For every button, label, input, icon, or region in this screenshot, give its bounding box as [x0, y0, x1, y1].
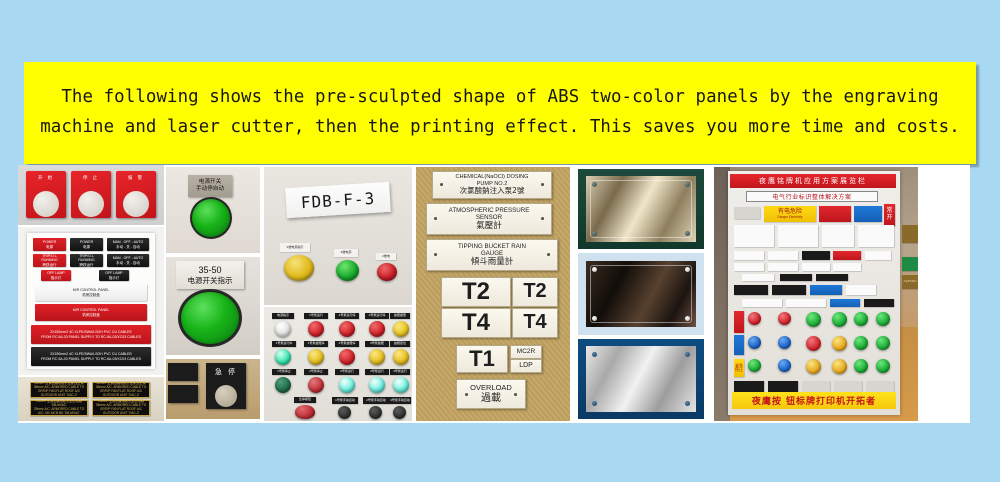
plate-en-line1: TIPPING BUCKET RAIN	[458, 243, 526, 250]
push-button[interactable]	[393, 349, 409, 365]
label-tag: MAN - OFF - AUTO 手动 - 关 - 自动	[107, 238, 149, 251]
push-button[interactable]	[308, 349, 324, 365]
black-sample-plate	[168, 363, 198, 381]
green-button[interactable]	[854, 359, 868, 373]
sample-label	[742, 274, 774, 281]
tag-plate-t2-left: T2	[441, 277, 511, 307]
photo-column-3: FDB-F-3 4楼电源指示 3楼电源 2楼电 电源指示 1号泵运行 2号泵运行…	[262, 165, 414, 423]
screw-icon	[434, 217, 437, 220]
screw-icon	[547, 253, 550, 256]
overload-nameplate: OVERLOAD 過載	[456, 379, 526, 409]
metal-plate-brass	[586, 176, 696, 242]
sample-plaque	[902, 225, 918, 243]
green-button[interactable]	[854, 336, 868, 350]
green-button[interactable]	[854, 312, 868, 326]
green-button[interactable]	[806, 312, 821, 327]
exhibit-sub-banner: 电气行业标识整体解决方案	[746, 191, 878, 202]
exhibit-red-banner: 夜鹰铭牌机应用方案展览栏	[730, 174, 896, 188]
tag-line2: 机房控制盘	[82, 293, 100, 297]
screw-icon	[592, 401, 597, 406]
push-button[interactable]	[275, 321, 291, 337]
button-label: 1号泵运行中	[272, 341, 296, 347]
red-button[interactable]	[806, 336, 821, 351]
red-plate: 开 始	[26, 171, 66, 218]
push-button[interactable]	[308, 321, 324, 337]
sample-label	[854, 206, 882, 222]
sample-label	[742, 299, 782, 307]
label-tag: MAN - OFF - AUTO 手动 - 关 - 自动	[107, 254, 149, 267]
captain-plaque: CAPTAIN	[902, 275, 918, 289]
screw-icon	[685, 401, 690, 406]
photo-pushbutton-array: 电源指示 1号泵运行 2号泵运行停 3号泵运行停 故障报警 1号泵运行中 1号泵…	[264, 307, 412, 421]
sample-label	[810, 285, 842, 295]
equipment-nameplate: TIPPING BUCKET RAIN GAUGE 傾斗雨量計	[426, 239, 558, 271]
photo-whitespace	[920, 165, 970, 423]
selector-label: 3号泵手动自动	[389, 397, 411, 404]
screw-icon	[685, 231, 690, 236]
photo-column-4: CHEMICAL(NaOCl) DOSING PUMP NO.2 次氯酸鈉注入泵…	[414, 165, 572, 423]
gold-nameplate: 35mm² 空调铠装电缆引至屋顶空调 35mm² A/C. ARMORED CA…	[30, 382, 88, 398]
photo-green-lamp-a: 电源开关 手动停自动	[166, 167, 260, 253]
lamp-label: 3楼电源	[334, 249, 358, 257]
engraved-lamp-plate: 电源开关 手动停自动	[188, 175, 232, 197]
exhibition-panel: 夜鹰铭牌机应用方案展览栏 电气行业标识整体解决方案 有电危险 Danger El…	[728, 171, 900, 415]
tag-plate-t2-right: T2	[512, 277, 558, 307]
screw-icon	[514, 393, 517, 396]
emergency-stop-plate: 急 停	[206, 363, 246, 409]
label-tag: 2X150mm2 4C XLPE/SWA/LSOH PVC CU CABLES …	[31, 325, 151, 344]
green-button[interactable]	[876, 312, 890, 326]
plate-border	[590, 265, 692, 323]
plate-title: 急 停	[215, 367, 237, 377]
red-button[interactable]	[778, 312, 791, 325]
blue-button[interactable]	[748, 336, 761, 349]
tag-line2: FROM RC 6A-03 PANEL SUPPLY TO RC-6A-03/X…	[41, 357, 141, 361]
push-button[interactable]	[308, 377, 324, 393]
plate-line1: 电源开关	[199, 179, 221, 186]
push-button[interactable]	[275, 377, 291, 393]
danger-label-en: Danger Electricity	[778, 216, 803, 220]
sample-label	[734, 311, 744, 333]
plate-line2: 电源开关指示	[188, 276, 233, 285]
blue-button[interactable]	[778, 336, 791, 349]
red-plate-title: 停 止	[71, 175, 111, 181]
plate-hole	[78, 191, 104, 217]
gold-nameplate: 25mm² 空调铠装电缆引至配电箱 'DB-MVAC' 25mm² A/C. A…	[30, 400, 88, 416]
button-label: 1号泵故障停	[304, 341, 328, 347]
screw-icon	[465, 393, 468, 396]
push-button[interactable]	[339, 321, 355, 337]
emergency-stop-button[interactable]	[295, 405, 315, 419]
sample-label	[734, 285, 768, 295]
sample-label	[768, 263, 798, 271]
button-label: 1号泵运行	[304, 313, 328, 319]
lamp-label: 4楼电源指示	[280, 243, 310, 252]
sample-label	[802, 263, 830, 271]
screw-icon	[685, 352, 690, 357]
green-indicator-lamp	[192, 199, 230, 237]
red-button[interactable]	[748, 312, 761, 325]
screw-icon	[592, 267, 597, 272]
photo-exhibition-board: 夜鹰铭牌机应用方案展览栏 电气行业标识整体解决方案 有电危险 Danger El…	[714, 167, 918, 421]
red-plate: 停 止	[71, 171, 111, 218]
photo-column-6: 夜鹰铭牌机应用方案展览栏 电气行业标识整体解决方案 有电危险 Danger El…	[712, 165, 970, 423]
sample-label	[816, 274, 848, 281]
tag-plate-t4-right: T4	[512, 308, 558, 338]
sample-label	[864, 299, 894, 307]
button-label: 故障报警	[390, 313, 410, 319]
button-label: 故障复位	[390, 341, 410, 347]
danger-electricity-label: 有电危险 Danger Electricity	[764, 206, 816, 222]
gold-nameplate: 35mm² 空调铠装电缆引至屋顶空调 35mm² A/C. ARMORED CA…	[92, 382, 150, 398]
button-label: 4号泵运行	[390, 369, 410, 375]
button-label: 急停按钮	[294, 397, 316, 403]
tag-plate-t1: T1	[456, 345, 508, 373]
screw-icon	[541, 183, 544, 186]
button-label: 2号泵运行	[335, 369, 359, 375]
metal-plate-brushed-silver	[586, 346, 696, 412]
button-label: 2号泵故障停	[335, 341, 359, 347]
tag-line2: 电源	[83, 245, 90, 249]
label-tag: M/R CONTROL PANEL 机房控制盘	[35, 304, 147, 321]
sample-label	[819, 206, 851, 222]
photo-blank-plate-gold	[578, 169, 704, 249]
sample-label	[786, 299, 826, 307]
sample-label	[734, 335, 744, 355]
tag-line1: TRIP/O.L RUNNING	[34, 254, 65, 263]
exhibit-yellow-banner: 夜鹰按 钮标牌打印机开拓者	[732, 392, 896, 409]
plate-hole	[123, 191, 149, 217]
amber-button[interactable]	[806, 359, 821, 374]
sample-label	[822, 225, 854, 247]
photo-red-abs-plates: 开 始 停 止 报 警	[18, 165, 164, 225]
screw-icon	[592, 352, 597, 357]
tag-line1: TRIP/O.L RUNNING	[71, 254, 102, 263]
tag-plate-ldp: LDP	[510, 359, 542, 373]
green-indicator-lamp	[336, 260, 359, 281]
blue-button[interactable]	[778, 359, 791, 372]
sample-label	[858, 225, 894, 247]
tag-plate-mc2r: MC2R	[510, 345, 542, 359]
banner-text: The following shows the pre-sculpted sha…	[35, 83, 965, 143]
sample-label	[734, 207, 760, 219]
sample-label	[846, 285, 876, 295]
plate-zh: 次氯酸鈉注入泵2號	[460, 187, 525, 196]
sample-label	[865, 251, 891, 260]
tag-line2: 手动 - 关 - 自动	[116, 261, 140, 265]
notice-banner: The following shows the pre-sculpted sha…	[24, 62, 976, 164]
tag-line2: 手动 - 关 - 自动	[116, 245, 140, 249]
selector-switch[interactable]	[338, 406, 351, 419]
label-tag: TRIP/O.L RUNNING 跨跃运行	[70, 254, 103, 267]
sample-label	[833, 263, 861, 271]
green-button[interactable]	[832, 312, 847, 327]
tag-plate-t4-left: T4	[441, 308, 511, 338]
photo-green-lamp-b: 35-50 电源开关指示	[166, 257, 260, 355]
photo-column-5	[572, 165, 712, 423]
amber-button[interactable]	[832, 359, 847, 374]
photo-emergency-stop-plate: 急 停	[166, 359, 260, 419]
plate-hole	[33, 191, 59, 217]
button-label: 1号泵停止	[272, 369, 296, 375]
button-label: 2号泵运行停	[335, 313, 359, 319]
plate-line2: 手动停自动	[196, 186, 224, 193]
sample-label	[772, 285, 806, 295]
screw-icon	[592, 231, 597, 236]
push-button[interactable]	[393, 377, 409, 393]
label-sample-board: POWER 电源 POWER 电源 MAN - OFF - AUTO 手动 - …	[27, 233, 155, 369]
push-button[interactable]	[275, 349, 291, 365]
plate-zh: 過載	[481, 393, 501, 405]
normally-open-label: 常开	[884, 204, 895, 226]
screw-icon	[440, 183, 443, 186]
plate-zh: 氣壓計	[476, 221, 502, 231]
lamp-label: 2楼电	[376, 253, 396, 260]
tag-line2: 跨跃运行	[80, 263, 94, 267]
plate-line4: A/C. MV MCB BD 'DB-MVAC'	[34, 412, 84, 416]
red-plate: 报 警	[116, 171, 156, 218]
normally-open-text: 常开	[884, 208, 895, 221]
plate-line1: 35-50	[198, 265, 221, 276]
selector-switch[interactable]	[369, 406, 382, 419]
sample-label	[780, 274, 812, 281]
sample-label	[734, 225, 774, 247]
green-button[interactable]	[748, 359, 761, 372]
tag-line2: FROM RC 6A-03 PANEL SUPPLY TO RC-6A-03/X…	[41, 335, 141, 339]
sample-label	[734, 251, 764, 260]
sample-label	[830, 299, 860, 307]
plate-en: OVERLOAD	[470, 384, 512, 393]
sample-label	[833, 251, 861, 260]
tag-line2: 机房控制盘	[82, 313, 100, 317]
sample-label	[768, 251, 798, 260]
red-plate-title: 开 始	[26, 175, 66, 181]
button-label: 3号泵运行停	[365, 313, 389, 319]
floor-area	[900, 327, 918, 421]
plate-en-line1: ATMOSPHERIC PRESSURE	[449, 207, 530, 214]
red-plate-title: 报 警	[116, 175, 156, 181]
sample-plaque	[902, 257, 918, 271]
arrow-label: 紧急停止	[734, 359, 744, 377]
photo-blank-plate-silver	[578, 339, 704, 419]
plate-line4: OUTDOOR UNIT 'OAC-2'	[96, 412, 146, 416]
tag-line2: 电源	[46, 245, 53, 249]
black-sample-plate	[168, 385, 198, 403]
push-button[interactable]	[393, 321, 409, 337]
photo-control-panel-labels: POWER 电源 POWER 电源 MAN - OFF - AUTO 手动 - …	[18, 227, 164, 375]
selector-label: 2号泵手动自动	[363, 397, 389, 404]
screw-icon	[592, 316, 597, 321]
engraved-lamp-plate: 35-50 电源开关指示	[176, 261, 244, 289]
push-button[interactable]	[369, 377, 385, 393]
selector-switch[interactable]	[393, 406, 406, 419]
plate-line4: OUTDOOR UNIT 'OAC-2'	[96, 394, 146, 398]
photo-column-2: 电源开关 手动停自动 35-50 电源开关指示 急 停	[164, 165, 262, 423]
label-tag: M/R CONTROL PANEL 机房控制盘	[35, 284, 147, 301]
photo-gold-on-black-nameplates: 35mm² 空调铠装电缆引至屋顶空调 35mm² A/C. ARMORED CA…	[18, 377, 164, 421]
button-label: 3号泵运行	[365, 369, 389, 375]
push-button[interactable]	[339, 349, 355, 365]
label-tag: TRIP/O.L RUNNING 跨跃运行	[33, 254, 66, 267]
green-indicator-lamp	[181, 292, 239, 344]
screw-icon	[592, 182, 597, 187]
tag-line2: 跨跃运行	[43, 263, 57, 267]
photo-engraved-nameplates: CHEMICAL(NaOCl) DOSING PUMP NO.2 次氯酸鈉注入泵…	[416, 167, 570, 421]
photo-strip: 开 始 停 止 报 警 POWER 电源 POWER 电源	[18, 165, 970, 423]
screw-icon	[685, 182, 690, 187]
equipment-nameplate: CHEMICAL(NaOCl) DOSING PUMP NO.2 次氯酸鈉注入泵…	[432, 171, 552, 199]
metal-plate-dark-bronze	[586, 261, 696, 327]
equipment-nameplate: ATMOSPHERIC PRESSURE SENSOR 氣壓計	[426, 203, 552, 235]
photo-blank-plate-bronze	[578, 253, 704, 335]
label-tag: 2X150mm2 4C XLPE/SWA/LSOH PVC CU CABLES …	[31, 347, 151, 366]
button-label: 2号泵停止	[304, 369, 328, 375]
screw-icon	[685, 267, 690, 272]
sample-label	[802, 251, 830, 260]
sample-label	[778, 225, 818, 247]
label-tag: POWER 电源	[33, 238, 66, 251]
label-tag: POWER 电源	[70, 238, 103, 251]
plate-line4: OUTDOOR UNIT 'OAC-2'	[34, 394, 84, 398]
photo-column-1: 开 始 停 止 报 警 POWER 电源 POWER 电源	[18, 165, 164, 423]
green-button[interactable]	[876, 336, 890, 350]
screw-icon	[434, 253, 437, 256]
tag-line2: 指示灯	[51, 276, 62, 280]
selector-label: 1号泵手动自动	[332, 397, 358, 404]
label-tag: OFF LAMP 指示灯	[99, 270, 129, 281]
push-button[interactable]	[339, 377, 355, 393]
green-button[interactable]	[876, 359, 890, 373]
gold-nameplate: 25mm² 空调铠装电缆引至配电箱 35mm² A/C. ARMORED CAB…	[92, 400, 150, 416]
fdb-sign: FDB-F-3	[285, 182, 391, 218]
photo-fdb-panel: FDB-F-3 4楼电源指示 3楼电源 2楼电	[264, 167, 412, 305]
plate-hole	[215, 385, 237, 407]
screw-icon	[541, 217, 544, 220]
push-button[interactable]	[369, 321, 385, 337]
plate-en-line1: CHEMICAL(NaOCl) DOSING	[455, 174, 528, 181]
button-label: 电源指示	[272, 313, 294, 319]
amber-button[interactable]	[832, 336, 847, 351]
plate-zh: 傾斗雨量計	[471, 257, 514, 267]
plate-border	[590, 180, 692, 238]
yellow-indicator-lamp	[284, 255, 314, 281]
screw-icon	[685, 316, 690, 321]
label-tag: OFF LAMP 指示灯	[41, 270, 71, 281]
push-button[interactable]	[369, 349, 385, 365]
sample-label	[734, 263, 764, 271]
tag-line2: 指示灯	[109, 276, 120, 280]
red-indicator-lamp	[377, 263, 397, 281]
button-label: 3号泵故障	[365, 341, 389, 347]
